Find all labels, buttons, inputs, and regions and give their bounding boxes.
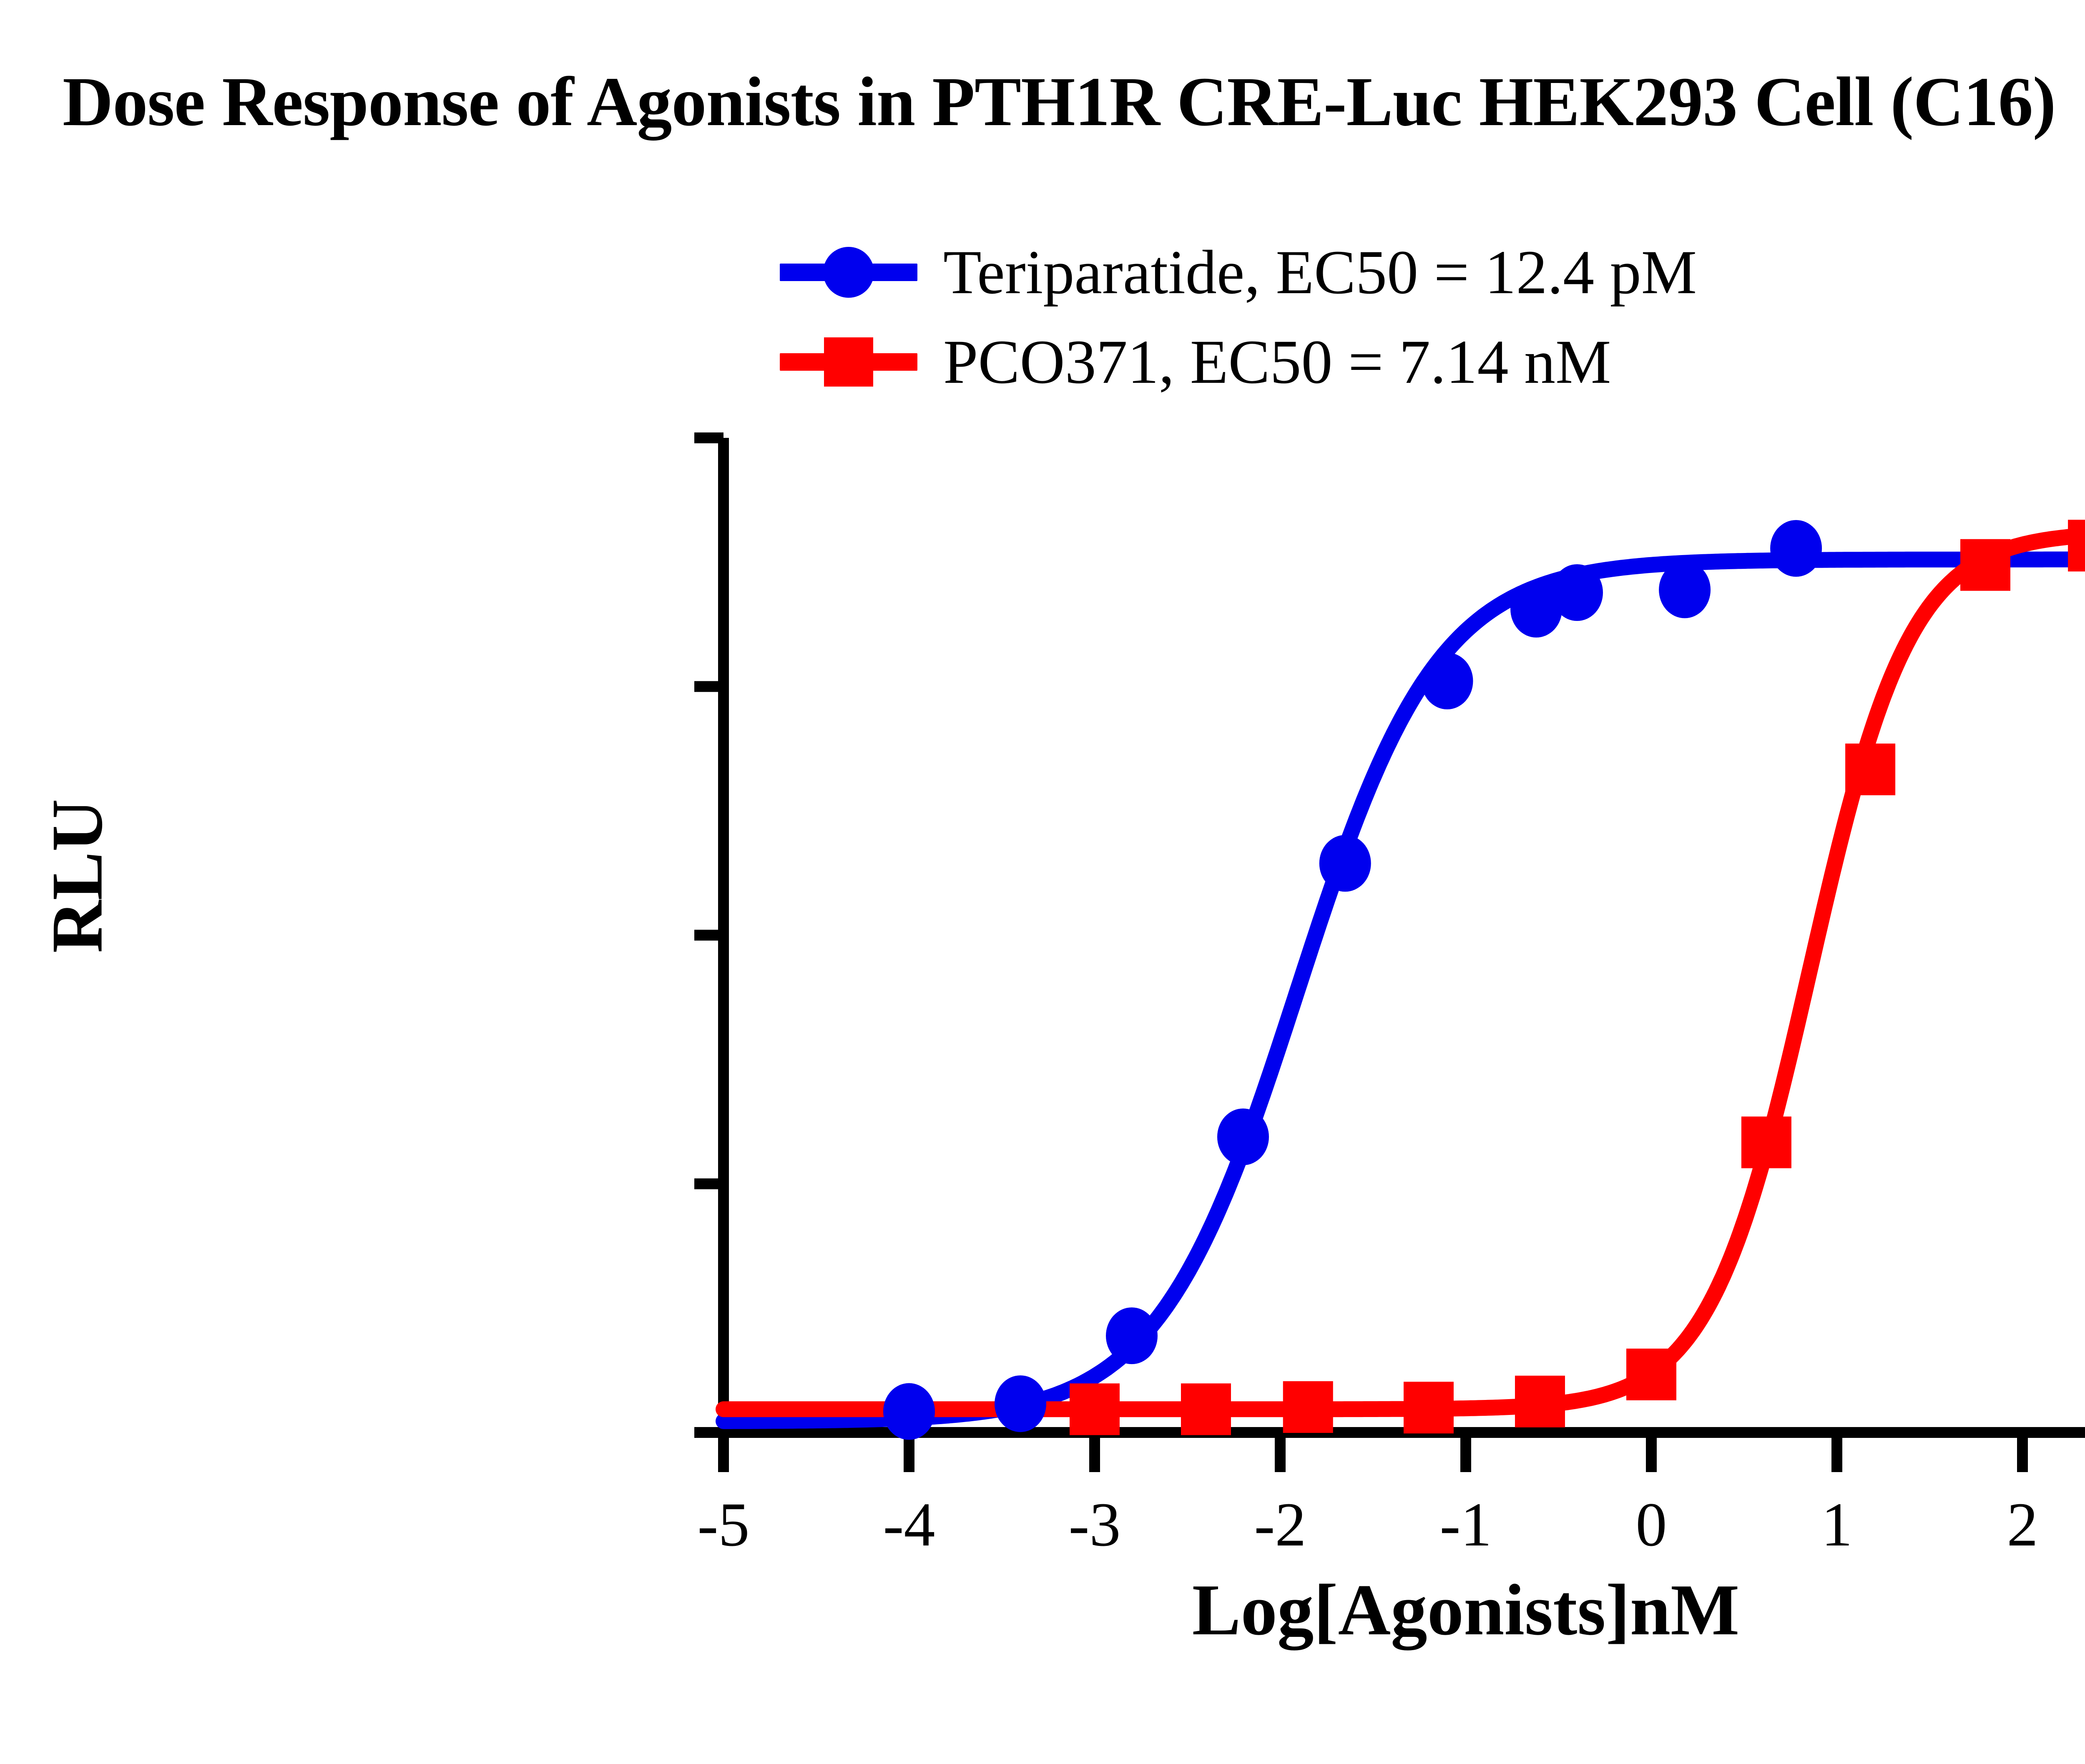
data-point-pco371[interactable] (1626, 1349, 1676, 1400)
x-tick-label: 2 (1960, 1489, 2085, 1560)
x-tick-label: -1 (1403, 1489, 1528, 1560)
data-point-pco371[interactable] (1181, 1383, 1231, 1435)
axis-ticks (694, 438, 2085, 1472)
axis-lines (718, 438, 2085, 1438)
data-point-pco371[interactable] (1283, 1381, 1333, 1433)
y-axis-title: RLU (35, 709, 119, 1043)
data-curves (723, 532, 2085, 1421)
x-tick-label: -3 (1032, 1489, 1157, 1560)
x-tick-label: 1 (1774, 1489, 1899, 1560)
data-point-teriparatide[interactable] (1319, 835, 1371, 892)
x-tick-label: 0 (1589, 1489, 1714, 1560)
data-point-teriparatide[interactable] (1770, 520, 1822, 577)
data-point-teriparatide[interactable] (1217, 1108, 1269, 1165)
data-point-teriparatide[interactable] (883, 1383, 935, 1440)
x-tick-label: -4 (847, 1489, 972, 1560)
x-tick-label: -2 (1218, 1489, 1343, 1560)
data-point-pco371[interactable] (1404, 1382, 1454, 1433)
data-point-pco371[interactable] (2068, 520, 2085, 571)
data-point-pco371[interactable] (1845, 744, 1895, 795)
data-point-pco371[interactable] (1515, 1376, 1565, 1427)
curve-pco371 (723, 532, 2085, 1409)
data-point-teriparatide[interactable] (1106, 1307, 1158, 1364)
data-point-pco371[interactable] (1070, 1383, 1120, 1435)
data-point-teriparatide[interactable] (995, 1375, 1046, 1432)
x-axis-title: Log[Agonists]nM (723, 1568, 2085, 1652)
x-tick-label: -5 (661, 1489, 786, 1560)
data-point-pco371[interactable] (1741, 1116, 1791, 1168)
data-point-pco371[interactable] (1960, 539, 2010, 591)
data-point-teriparatide[interactable] (1551, 564, 1603, 621)
data-point-teriparatide[interactable] (1659, 561, 1711, 618)
figure-root: Dose Response of Agonists in PTH1R CRE-L… (0, 0, 2085, 1764)
data-point-teriparatide[interactable] (1422, 653, 1473, 709)
